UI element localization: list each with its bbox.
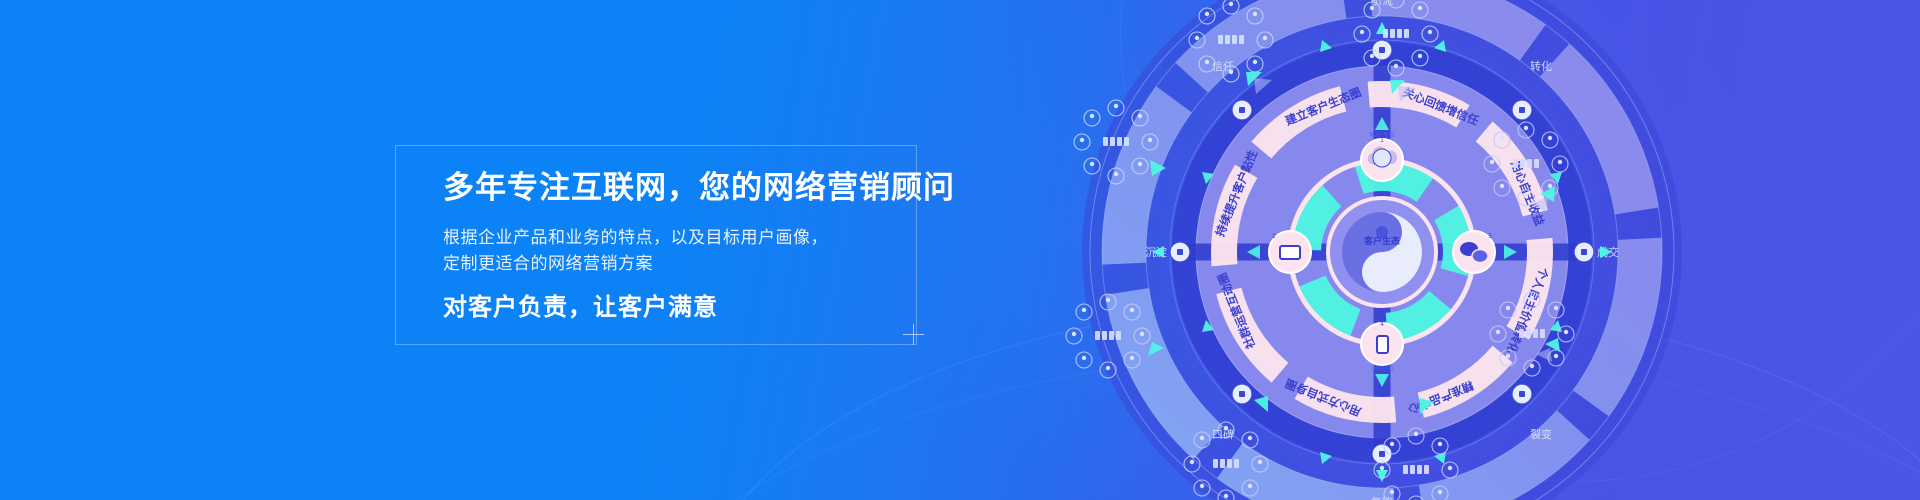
user-lock-icon [1195,2,1267,74]
center-node-left: 2 [1269,231,1311,273]
subtitle-line-1: 根据企业产品和业务的特点，以及目标用户画像， [443,225,916,251]
satellite-cluster-top-left [1185,0,1277,86]
page-title: 多年专注互联网，您的网络营销顾问 [443,172,916,203]
headline-panel: 多年专注互联网，您的网络营销顾问 根据企业产品和业务的特点，以及目标用户画像， … [395,145,917,345]
satellite-cluster-right-upper [1480,118,1572,210]
center-node-index-3: 3 [1488,233,1492,240]
mobile-phone-icon [1377,336,1388,353]
marketing-banner: 多年专注互联网，您的网络营销顾问 根据企业产品和业务的特点，以及目标用户画像， … [0,0,1920,500]
user-lock-icon [1190,426,1262,498]
satellite-cluster-top [1350,0,1442,80]
satellite-cluster-bottom-right [1370,424,1462,500]
user-lock-icon [1360,0,1432,68]
outer-label-1: 转化 [1530,59,1552,73]
satellite-cluster-bottom-left [1180,418,1272,500]
tagline: 对客户负责，让客户满意 [443,296,916,320]
subtitle-block: 根据企业产品和业务的特点，以及目标用户画像， 定制更适合的网络营销方案 [443,225,916,276]
outer-label-3: 裂变 [1530,427,1552,441]
center-core: 客户生态 [1328,198,1436,306]
user-lock-icon [1380,432,1452,500]
center-node-right: 3 [1453,231,1495,273]
monitor-icon [1280,246,1300,259]
satellite-cluster-right-lower [1486,288,1578,380]
satellite-cluster-left-upper [1070,96,1162,188]
center-node-index-4: 4 [1380,321,1384,328]
user-lock-icon [1072,298,1144,370]
user-lock-icon [1080,104,1152,176]
center-node-index-1: 1 [1380,137,1384,144]
center-label: 客户生态 [1363,235,1400,247]
yin-yang-icon [1342,212,1422,292]
user-lock-icon [1496,296,1568,368]
user-lock-icon [1490,126,1562,198]
subtitle-line-2: 定制更适合的网络营销方案 [443,251,916,277]
satellite-cluster-left-lower [1062,290,1154,382]
center-node-index-2: 2 [1272,233,1276,240]
